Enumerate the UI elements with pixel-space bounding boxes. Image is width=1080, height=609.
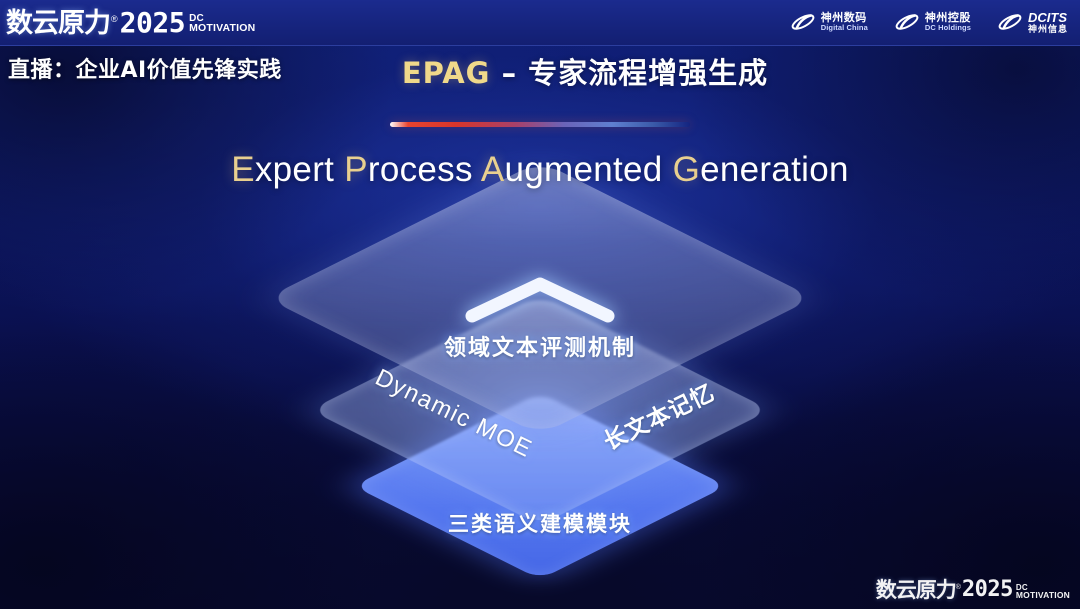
brand-logo-dc-block: DC MOTIVATION xyxy=(189,14,255,33)
swirl-logo-icon xyxy=(894,11,920,33)
partner-logo-dcits: DCITS 神州信息 xyxy=(997,11,1068,34)
partner-text-dcits: DCITS 神州信息 xyxy=(1028,11,1068,34)
corner-watermark: 数云原力 ® 2025 DC MOTIVATION xyxy=(876,579,1070,601)
slide-canvas: 数云原力 ® 2025 DC MOTIVATION 神州数码 Digital C… xyxy=(0,0,1080,609)
eng-cap-2: A xyxy=(481,150,505,189)
brand-logo-cn: 数云原力 xyxy=(6,10,110,37)
partner-cn-2: DCITS xyxy=(1028,11,1068,25)
partner-en-1: DC Holdings xyxy=(925,24,971,32)
eng-rest-3: eneration xyxy=(700,150,849,189)
partner-logo-dc-holdings: 神州控股 DC Holdings xyxy=(894,11,971,33)
eng-cap-3: G xyxy=(673,150,701,189)
brand-motivation-text: MOTIVATION xyxy=(189,24,255,34)
watermark-year: 2025 xyxy=(962,579,1013,601)
swirl-logo-icon xyxy=(790,11,816,33)
swirl-logo-icon xyxy=(997,11,1023,33)
registered-mark: ® xyxy=(111,14,118,24)
watermark-registered: ® xyxy=(956,584,961,591)
eng-cap-0: E xyxy=(231,150,255,189)
partner-logo-digital-china: 神州数码 Digital China xyxy=(790,11,868,33)
brand-logo: 数云原力 ® 2025 DC MOTIVATION xyxy=(6,9,255,37)
brand-logo-year: 2025 xyxy=(120,9,185,37)
partner-en-2: 神州信息 xyxy=(1028,25,1068,34)
watermark-cn: 数云原力 xyxy=(876,580,956,601)
layer-label-bottom: 三类语义建模模块 xyxy=(448,508,632,538)
title-rest: – 专家流程增强生成 xyxy=(490,56,768,90)
partner-logo-group: 神州数码 Digital China 神州控股 DC Holdings xyxy=(790,11,1068,34)
chevron-up-icon xyxy=(462,272,618,326)
layer-label-top: 领域文本评测机制 xyxy=(444,330,636,362)
eng-cap-1: P xyxy=(344,150,368,189)
top-banner: 数云原力 ® 2025 DC MOTIVATION 神州数码 Digital C… xyxy=(0,0,1080,46)
partner-text-digital-china: 神州数码 Digital China xyxy=(821,13,868,32)
watermark-motivation: MOTIVATION xyxy=(1016,591,1070,599)
partner-text-dc-holdings: 神州控股 DC Holdings xyxy=(925,13,971,32)
eng-rest-2: ugmented xyxy=(505,150,673,189)
gradient-divider xyxy=(390,122,690,127)
watermark-dc-block: DC MOTIVATION xyxy=(1016,584,1070,600)
eng-rest-1: rocess xyxy=(368,150,481,189)
partner-en-0: Digital China xyxy=(821,24,868,32)
eng-rest-0: xpert xyxy=(255,150,344,189)
title-acronym: EPAG xyxy=(402,56,491,90)
page-title: EPAG – 专家流程增强生成 xyxy=(0,50,1080,92)
english-subtitle: Expert Process Augmented Generation xyxy=(0,150,1080,190)
